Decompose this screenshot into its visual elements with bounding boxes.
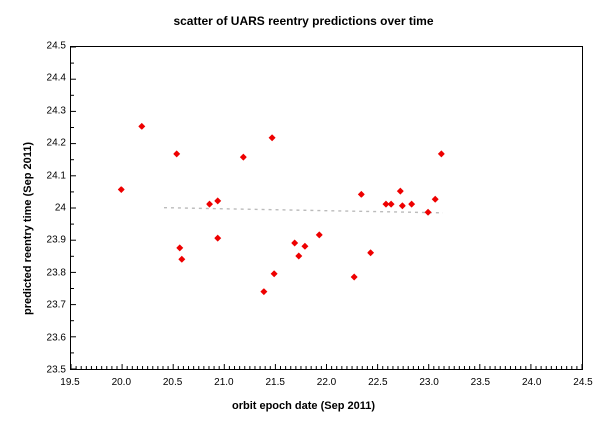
data-point [206, 201, 213, 208]
y-tick-label: 24 [24, 203, 66, 214]
x-tick-label: 23.5 [471, 377, 490, 388]
diamond-marker-icon [214, 197, 221, 204]
diamond-marker-icon [269, 134, 276, 141]
data-point [291, 240, 298, 247]
data-point [399, 202, 406, 209]
data-point [176, 244, 183, 251]
y-tick-label: 24.3 [24, 105, 66, 116]
y-axis-ticks [71, 47, 76, 369]
data-point [358, 191, 365, 198]
x-tick-label: 20.5 [163, 377, 182, 388]
scatter-chart: scatter of UARS reentry predictions over… [0, 0, 607, 437]
x-tick-label: 21.0 [214, 377, 233, 388]
x-axis-ticks [71, 364, 582, 369]
data-point [138, 123, 145, 130]
diamond-marker-icon [295, 252, 302, 259]
diamond-marker-icon [351, 274, 358, 281]
diamond-marker-icon [176, 244, 183, 251]
data-point [316, 231, 323, 238]
data-point [397, 188, 404, 195]
x-tick-label: 20.0 [112, 377, 131, 388]
data-point [295, 252, 302, 259]
plot-area [70, 46, 583, 370]
data-point [269, 134, 276, 141]
diamond-marker-icon [399, 202, 406, 209]
diamond-marker-icon [173, 150, 180, 157]
y-tick-label: 24.1 [24, 170, 66, 181]
chart-title: scatter of UARS reentry predictions over… [0, 14, 607, 28]
diamond-marker-icon [138, 123, 145, 130]
y-tick-label: 23.9 [24, 235, 66, 246]
x-tick-label: 21.5 [265, 377, 284, 388]
x-tick-label: 22.0 [317, 377, 336, 388]
y-tick-label: 24.2 [24, 138, 66, 149]
diamond-marker-icon [178, 256, 185, 263]
data-point [351, 274, 358, 281]
data-point [178, 256, 185, 263]
y-tick-label: 23.8 [24, 267, 66, 278]
diamond-marker-icon [397, 188, 404, 195]
x-tick-label: 24.5 [573, 377, 592, 388]
diamond-marker-icon [316, 231, 323, 238]
y-tick-label: 24.5 [24, 41, 66, 52]
diamond-marker-icon [358, 191, 365, 198]
plot-layer [71, 47, 582, 369]
diamond-marker-icon [260, 288, 267, 295]
data-point [173, 150, 180, 157]
data-point [388, 201, 395, 208]
data-point [438, 150, 445, 157]
x-axis-title: orbit epoch date (Sep 2011) [0, 400, 607, 412]
diamond-marker-icon [438, 150, 445, 157]
diamond-marker-icon [291, 240, 298, 247]
data-point [432, 196, 439, 203]
data-point [408, 201, 415, 208]
x-tick-label: 24.0 [522, 377, 541, 388]
diamond-marker-icon [271, 270, 278, 277]
data-point [240, 154, 247, 161]
data-point [118, 186, 125, 193]
data-point [425, 209, 432, 216]
data-point [214, 197, 221, 204]
x-tick-label: 19.5 [60, 377, 79, 388]
diamond-marker-icon [388, 201, 395, 208]
diamond-marker-icon [425, 209, 432, 216]
y-tick-label: 23.7 [24, 300, 66, 311]
data-point [301, 243, 308, 250]
diamond-marker-icon [301, 243, 308, 250]
y-axis-title: predicted reentry time (Sep 2011) [22, 142, 34, 315]
x-tick-label: 23.0 [419, 377, 438, 388]
diamond-marker-icon [367, 249, 374, 256]
y-tick-label: 23.5 [24, 365, 66, 376]
data-point [271, 270, 278, 277]
diamond-marker-icon [118, 186, 125, 193]
data-point [214, 235, 221, 242]
y-tick-label: 24.4 [24, 73, 66, 84]
diamond-marker-icon [432, 196, 439, 203]
data-point [260, 288, 267, 295]
diamond-marker-icon [206, 201, 213, 208]
data-point [367, 249, 374, 256]
diamond-marker-icon [240, 154, 247, 161]
x-tick-label: 22.5 [368, 377, 387, 388]
y-tick-label: 23.6 [24, 332, 66, 343]
diamond-marker-icon [214, 235, 221, 242]
diamond-marker-icon [408, 201, 415, 208]
